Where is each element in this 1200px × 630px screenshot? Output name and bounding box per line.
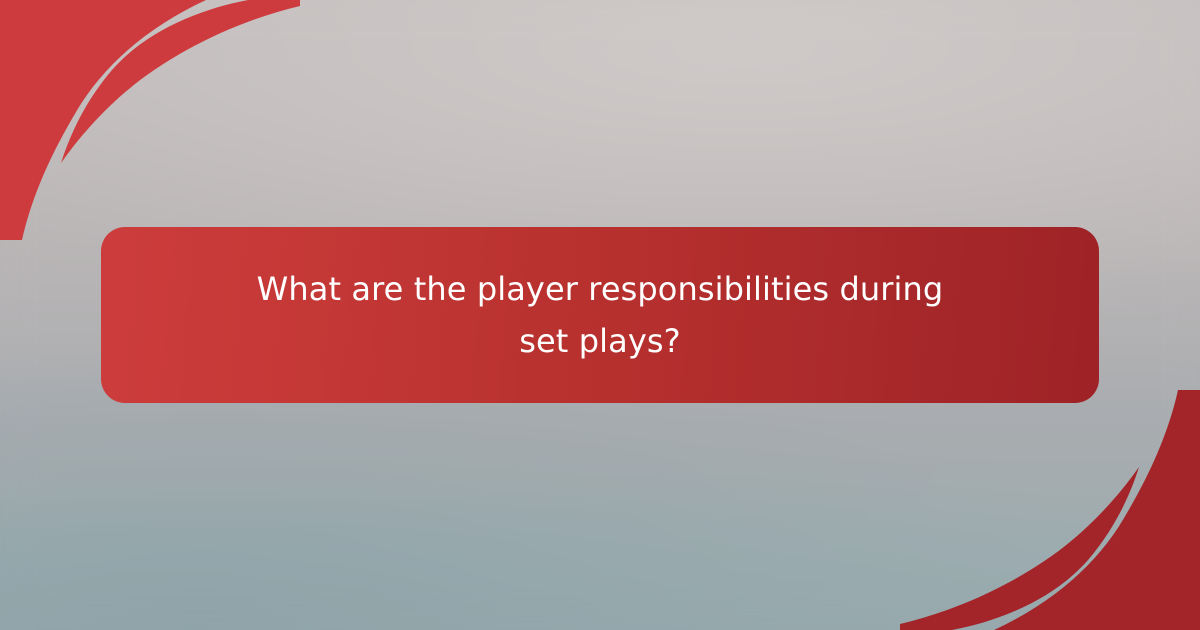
- social-card-canvas: What are the player responsibilities dur…: [0, 0, 1200, 630]
- red-swoosh-bottom-right: [900, 390, 1200, 630]
- red-swoosh-top-left: [0, 0, 300, 240]
- swoosh-tl-svg: [0, 0, 300, 240]
- question-text: What are the player responsibilities dur…: [257, 263, 944, 367]
- swoosh-br-svg: [900, 390, 1200, 630]
- question-card: What are the player responsibilities dur…: [101, 227, 1099, 403]
